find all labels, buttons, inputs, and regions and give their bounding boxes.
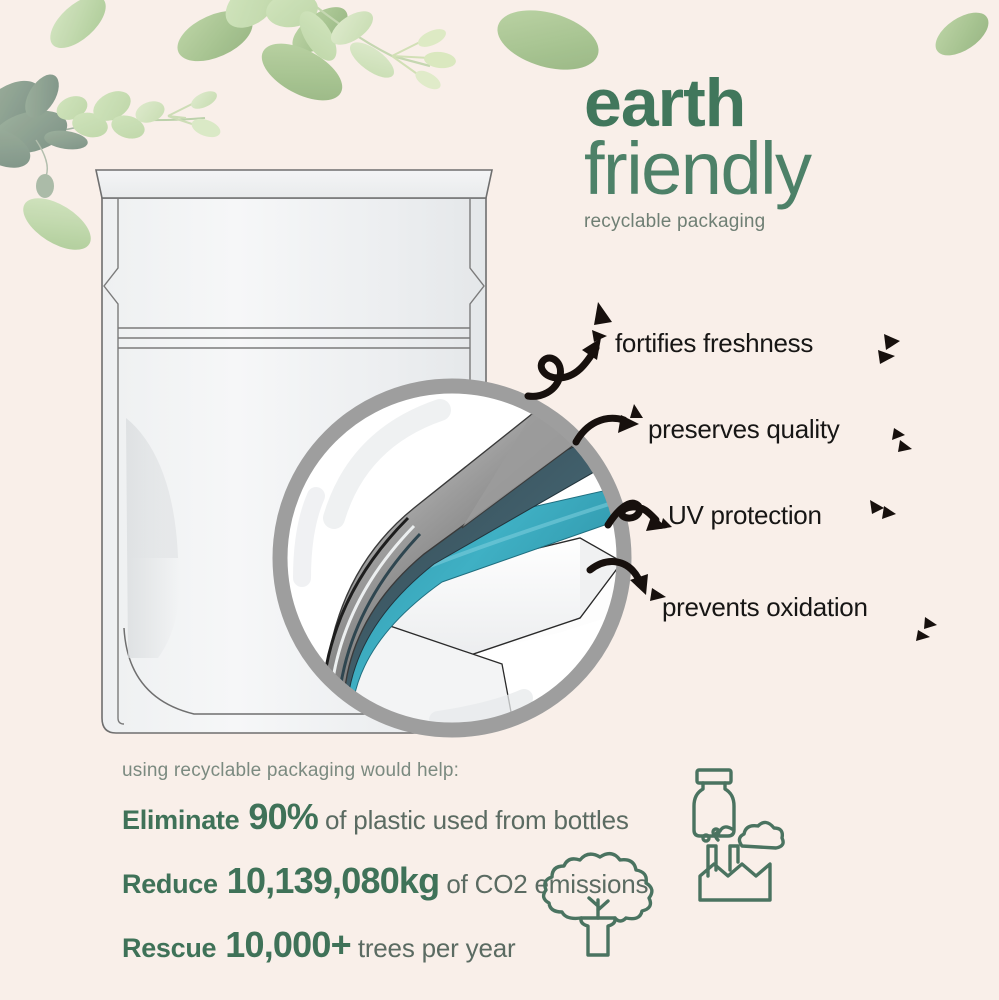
stat-verb: Rescue [122,933,216,964]
stat-description: of CO2 emissions [446,869,648,900]
feature-label-preserves-quality[interactable]: preserves quality [648,414,839,445]
sparkle-icon [870,500,884,514]
stat-row-reduce: Reduce 10,139,080kg of CO2 emissions [122,860,822,902]
sparkle-icon [916,630,930,641]
sparkle-icon [898,440,912,452]
header-block: earth friendly recyclable packaging [584,72,984,233]
feature-label-fortifies-freshness[interactable]: fortifies freshness [615,328,813,359]
leaf [285,0,356,62]
leaf [928,4,996,64]
stat-value: 10,139,080kg [227,860,440,902]
leaf-branch-dark [0,69,90,198]
sparkle-icon [882,506,896,519]
feature-label-uv-protection[interactable]: UV protection [668,500,822,531]
leaf [41,0,114,57]
stat-row-rescue: Rescue 10,000+ trees per year [122,924,822,966]
stats-intro: using recyclable packaging would help: [122,760,822,782]
loop-arrow-head [646,514,667,531]
stat-verb: Eliminate [122,805,239,836]
sparkle-icon [878,350,895,364]
feature-label-prevents-oxidation[interactable]: prevents oxidation [662,592,868,623]
page-title-line2: friendly [584,133,984,206]
leaf [170,1,260,72]
stat-row-eliminate: Eliminate 90% of plastic used from bottl… [122,796,822,838]
leaf-branch-topright [217,0,457,93]
material-layers-magnifier [262,368,642,748]
leaf [253,32,351,112]
sparkle-icon [594,302,612,325]
page-title-line1: earth [584,72,984,135]
stat-description: trees per year [358,933,516,964]
pouch-top-seal [96,170,492,198]
stat-value: 10,000+ [225,924,351,966]
page-subtitle: recyclable packaging [584,211,984,233]
stat-value: 90% [248,796,318,838]
curl-arrow-up-head [582,338,601,360]
sparkle-icon [892,428,905,440]
stats-block: using recyclable packaging would help: E… [122,760,822,988]
sparkle-icon [884,334,900,350]
sparkle-icon [592,330,607,342]
sparkle-icon [924,617,937,629]
stat-description: of plastic used from bottles [325,805,629,836]
stat-verb: Reduce [122,869,218,900]
leaf-branch-light [53,85,223,142]
infographic-canvas: earth friendly recyclable packaging [0,0,999,1000]
